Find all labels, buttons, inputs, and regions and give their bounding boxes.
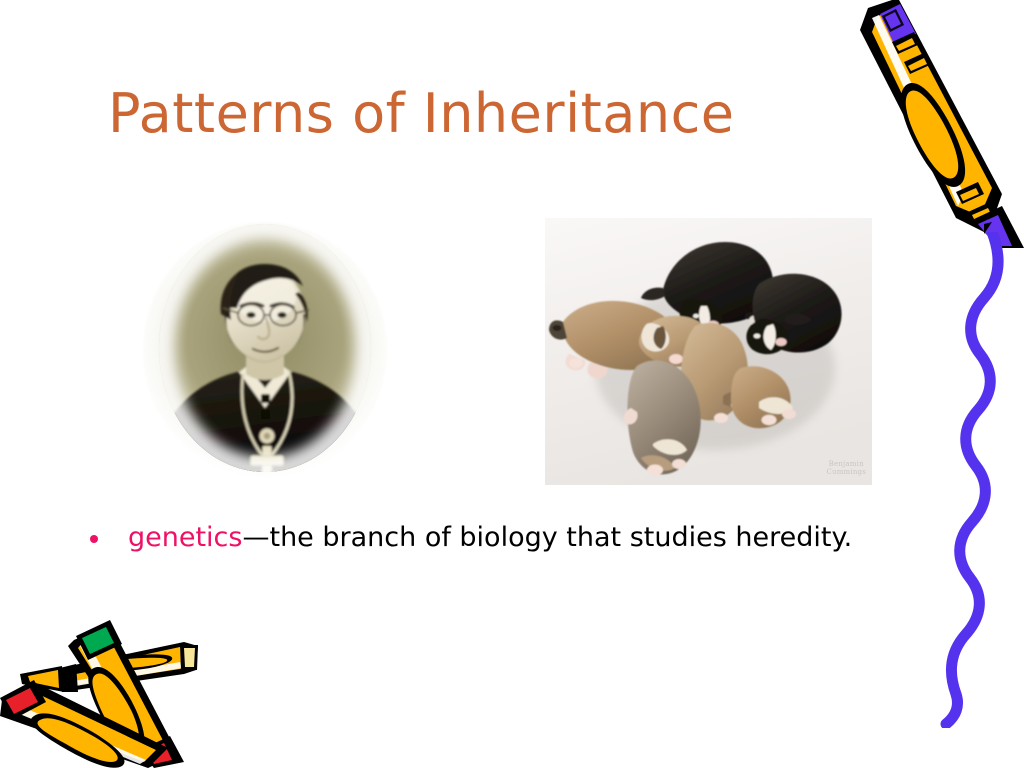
portrait-artwork	[143, 222, 387, 478]
crayon-icon	[852, 0, 1024, 248]
crossed-crayons-trio-icon	[0, 612, 202, 768]
glossary-definition: —the branch of biology that studies here…	[242, 522, 852, 553]
wavy-line-artwork	[930, 232, 1024, 728]
photo-credit-watermark: Benjamin Cummings	[826, 460, 866, 478]
watermark-line-1: Benjamin	[826, 460, 866, 469]
wavy-line-icon	[930, 232, 1024, 728]
crayons-artwork	[0, 612, 202, 768]
page-title: Patterns of Inheritance	[108, 86, 868, 143]
puppy-litter-photo: Benjamin Cummings	[545, 218, 872, 485]
watermark-line-2: Cummings	[826, 468, 866, 477]
puppy-litter-artwork	[545, 218, 872, 485]
slide-canvas: Patterns of Inheritance	[0, 0, 1024, 768]
crayon-artwork	[852, 0, 1024, 248]
bullet-dot-icon	[90, 535, 98, 543]
content-placeholder: genetics—the branch of biology that stud…	[84, 522, 874, 554]
list-item: genetics—the branch of biology that stud…	[84, 522, 874, 554]
gregor-mendel-portrait	[143, 222, 387, 478]
glossary-term: genetics	[128, 522, 242, 553]
bullet-text: genetics—the branch of biology that stud…	[128, 522, 874, 554]
